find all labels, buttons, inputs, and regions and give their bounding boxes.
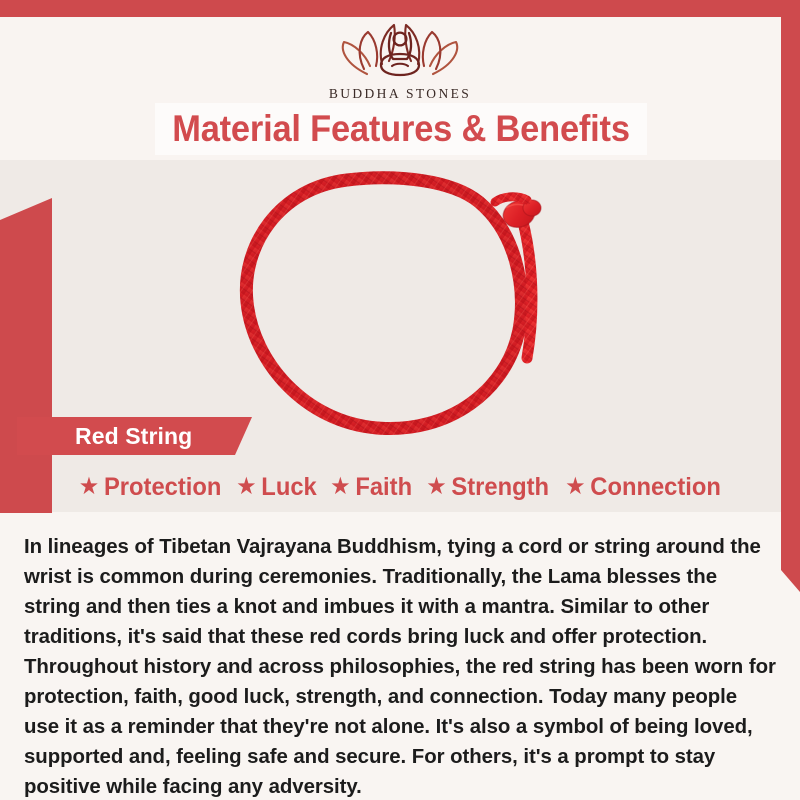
star-icon: ★ — [426, 475, 446, 499]
product-ribbon: Red String — [17, 417, 252, 455]
benefit-label: Strength — [451, 473, 549, 502]
benefits-list: ★ Protection ★ Luck ★ Faith ★ Strength ★… — [0, 466, 800, 508]
star-icon: ★ — [330, 475, 350, 499]
description-paragraph: In lineages of Tibetan Vajrayana Buddhis… — [24, 532, 776, 800]
lotus-meditation-figure-icon — [334, 20, 466, 82]
benefit-item-protection: ★ Protection — [78, 473, 221, 502]
benefit-item-luck: ★ Luck — [236, 473, 317, 502]
benefit-label: Faith — [355, 473, 412, 502]
star-icon: ★ — [78, 475, 98, 499]
brand-logo: BUDDHA STONES — [0, 20, 800, 102]
infographic-card: BUDDHA STONES Material Features & Benefi… — [0, 0, 800, 800]
benefit-item-connection: ★ Connection — [565, 473, 721, 502]
decorative-strip-top — [0, 0, 800, 17]
title-plate: Material Features & Benefits — [155, 103, 647, 155]
red-braided-string-bracelet-image — [227, 162, 617, 452]
brand-name: BUDDHA STONES — [329, 86, 471, 102]
benefit-label: Connection — [591, 473, 722, 502]
benefit-item-faith: ★ Faith — [330, 473, 412, 502]
star-icon: ★ — [236, 475, 256, 499]
benefit-label: Protection — [104, 473, 221, 502]
star-icon: ★ — [565, 475, 585, 499]
product-image-area — [52, 162, 782, 452]
ribbon-label: Red String — [75, 423, 192, 450]
benefit-item-strength: ★ Strength — [426, 473, 549, 502]
benefit-label: Luck — [261, 473, 316, 502]
page-title: Material Features & Benefits — [172, 108, 630, 150]
